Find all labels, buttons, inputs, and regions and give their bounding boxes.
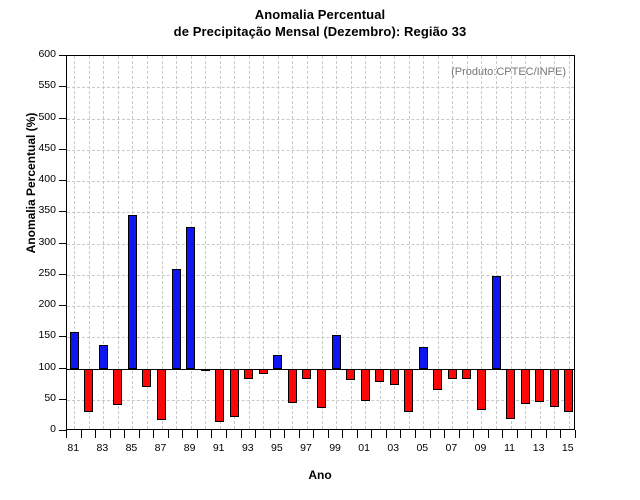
x-tick-12 [517,430,518,438]
x-tick-01 [357,430,358,438]
bar-09 [477,369,486,411]
bar-92 [230,369,239,418]
x-tick-04 [400,430,401,438]
x-axis-title: Ano [0,468,640,482]
x-tick-84 [110,430,111,438]
x-tick-label-95: 95 [262,442,292,454]
y-tick-0 [59,430,66,431]
bar-13 [535,369,544,402]
x-tick-15 [560,430,561,438]
x-tick-label-15: 15 [553,442,583,454]
chart-title: Anomalia Percentual de Precipitação Mens… [0,6,640,40]
x-tick-98 [313,430,314,438]
y-tick-400 [59,180,66,181]
x-tick-85 [124,430,125,438]
x-tick-label-81: 81 [58,442,88,454]
bar-83 [99,345,108,369]
x-tick-label-03: 03 [378,442,408,454]
x-tick-92 [226,430,227,438]
y-tick-150 [59,336,66,337]
baseline-100-line [67,369,574,370]
x-tick-90 [197,430,198,438]
y-tick-label-300: 300 [0,236,56,248]
y-tick-200 [59,305,66,306]
x-tick-label-87: 87 [146,442,176,454]
bar-99 [332,335,341,368]
x-tick-13 [531,430,532,438]
bar-84 [113,369,122,405]
y-tick-500 [59,118,66,119]
x-tick-14 [546,430,547,438]
bar-07 [448,369,457,380]
x-tick-label-07: 07 [436,442,466,454]
y-tick-label-0: 0 [0,423,56,435]
x-tick-label-85: 85 [116,442,146,454]
x-tick-07 [444,430,445,438]
bar-98 [317,369,326,408]
x-tick-81 [66,430,67,438]
x-tick-83 [95,430,96,438]
x-tick-02 [371,430,372,438]
x-tick-03 [386,430,387,438]
x-tick-93 [241,430,242,438]
y-tick-label-250: 250 [0,267,56,279]
y-tick-300 [59,243,66,244]
x-tick-00 [342,430,343,438]
bar-91 [215,369,224,423]
y-tick-label-200: 200 [0,298,56,310]
y-tick-label-550: 550 [0,79,56,91]
x-tick-label-97: 97 [291,442,321,454]
chart-title-line-1: Anomalia Percentual [0,6,640,23]
y-tick-450 [59,149,66,150]
bar-11 [506,369,515,419]
y-tick-label-50: 50 [0,392,56,404]
bar-93 [244,369,253,380]
x-tick-09 [473,430,474,438]
bar-04 [404,369,413,412]
x-tick-91 [211,430,212,438]
bar-88 [172,269,181,369]
bar-00 [346,369,355,380]
x-tick-86 [139,430,140,438]
y-tick-250 [59,274,66,275]
bar-10 [492,276,501,369]
x-tick-94 [255,430,256,438]
bar-15 [564,369,573,413]
y-tick-600 [59,55,66,56]
y-tick-label-600: 600 [0,48,56,60]
y-tick-label-500: 500 [0,111,56,123]
bar-87 [157,369,166,421]
x-tick-11 [502,430,503,438]
bar-01 [361,369,370,402]
x-tick-97 [299,430,300,438]
x-tick-95 [270,430,271,438]
x-tick-label-99: 99 [320,442,350,454]
x-tick-label-11: 11 [495,442,525,454]
plot-area: (Produto:CPTEC/INPE) [66,55,575,430]
x-tick-10 [488,430,489,438]
x-tick-08 [459,430,460,438]
x-tick-05 [415,430,416,438]
x-tick-label-13: 13 [524,442,554,454]
bars-layer [67,56,574,429]
y-tick-label-100: 100 [0,361,56,373]
bar-05 [419,347,428,369]
bar-86 [142,369,151,388]
x-tick-89 [182,430,183,438]
x-tick-06 [430,430,431,438]
x-tick-label-89: 89 [175,442,205,454]
x-tick-88 [168,430,169,438]
bar-82 [84,369,93,412]
x-tick-87 [153,430,154,438]
x-tick-label-01: 01 [349,442,379,454]
x-tick-99 [328,430,329,438]
y-tick-label-150: 150 [0,329,56,341]
y-tick-50 [59,399,66,400]
y-tick-350 [59,211,66,212]
x-tick-82 [81,430,82,438]
bar-12 [521,369,530,405]
y-tick-label-450: 450 [0,142,56,154]
bar-96 [288,369,297,403]
x-tick-label-91: 91 [204,442,234,454]
bar-85 [128,215,137,369]
bar-02 [375,369,384,383]
bar-08 [462,369,471,379]
bar-81 [70,332,79,368]
x-tick-label-93: 93 [233,442,263,454]
bar-95 [273,355,282,368]
x-tick-label-83: 83 [87,442,117,454]
bar-03 [390,369,399,386]
chart-title-line-2: de Precipitação Mensal (Dezembro): Regiã… [0,23,640,40]
bar-89 [186,227,195,369]
x-tick-end [575,430,576,438]
x-tick-96 [284,430,285,438]
x-tick-label-05: 05 [407,442,437,454]
bar-06 [433,369,442,390]
bar-14 [550,369,559,408]
y-tick-label-400: 400 [0,173,56,185]
x-tick-label-09: 09 [465,442,495,454]
y-tick-550 [59,86,66,87]
bar-97 [302,369,311,380]
chart-page: Anomalia Percentual de Precipitação Mens… [0,0,640,500]
producer-annotation: (Produto:CPTEC/INPE) [451,66,566,78]
y-tick-label-350: 350 [0,204,56,216]
y-tick-100 [59,368,66,369]
